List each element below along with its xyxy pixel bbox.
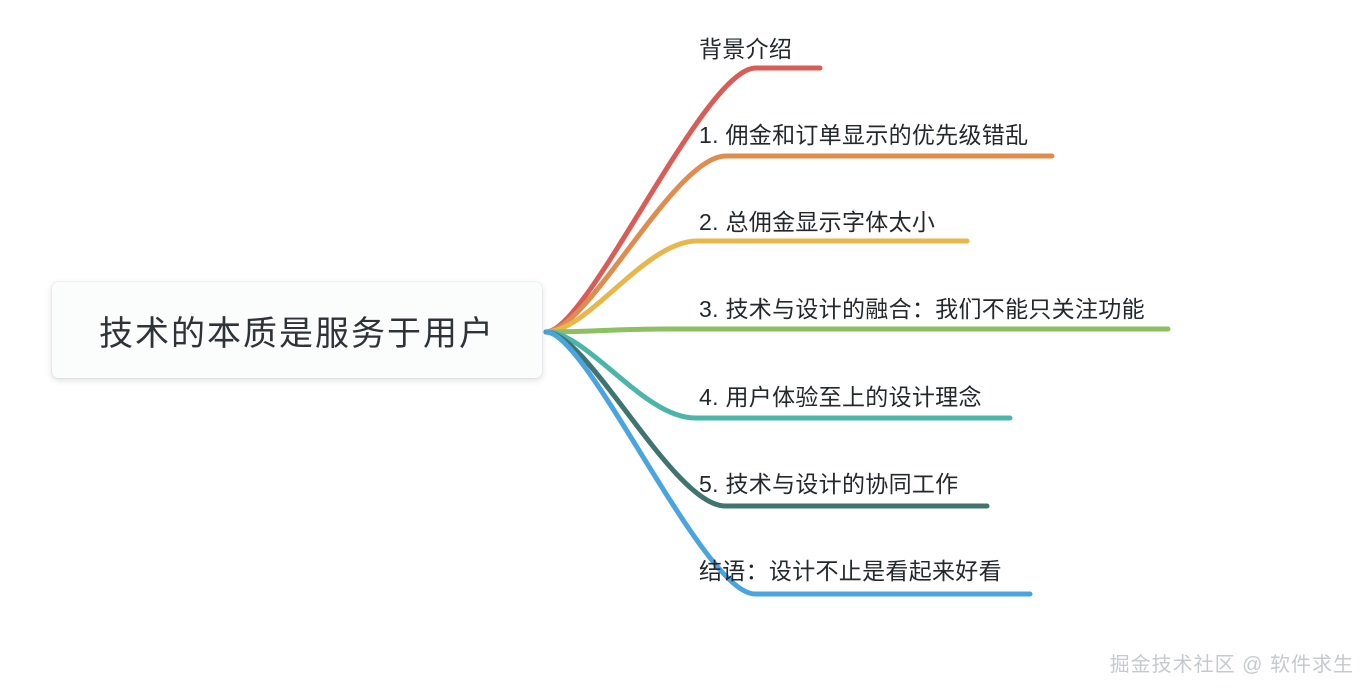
branch-5-label[interactable]: 4. 用户体验至上的设计理念 [699, 386, 982, 409]
branch-4-label[interactable]: 3. 技术与设计的融合：我们不能只关注功能 [699, 298, 1145, 321]
branch-6-label[interactable]: 5. 技术与设计的协同工作 [699, 473, 958, 496]
branch-7-label[interactable]: 结语：设计不止是看起来好看 [699, 560, 1002, 583]
mindmap-canvas: 技术的本质是服务于用户 背景介绍1. 佣金和订单显示的优先级错乱2. 总佣金显示… [0, 0, 1366, 695]
branch-1-label[interactable]: 背景介绍 [699, 38, 792, 61]
branch-3-label[interactable]: 2. 总佣金显示字体太小 [699, 211, 935, 234]
branch-1-line [546, 68, 820, 332]
watermark: 掘金技术社区 @ 软件求生 [1110, 648, 1354, 677]
branch-4-line [546, 329, 1168, 332]
branch-7-line [546, 332, 1030, 594]
root-node-label: 技术的本质是服务于用户 [99, 306, 495, 355]
root-node[interactable]: 技术的本质是服务于用户 [52, 282, 542, 378]
branch-2-label[interactable]: 1. 佣金和订单显示的优先级错乱 [699, 124, 1028, 147]
